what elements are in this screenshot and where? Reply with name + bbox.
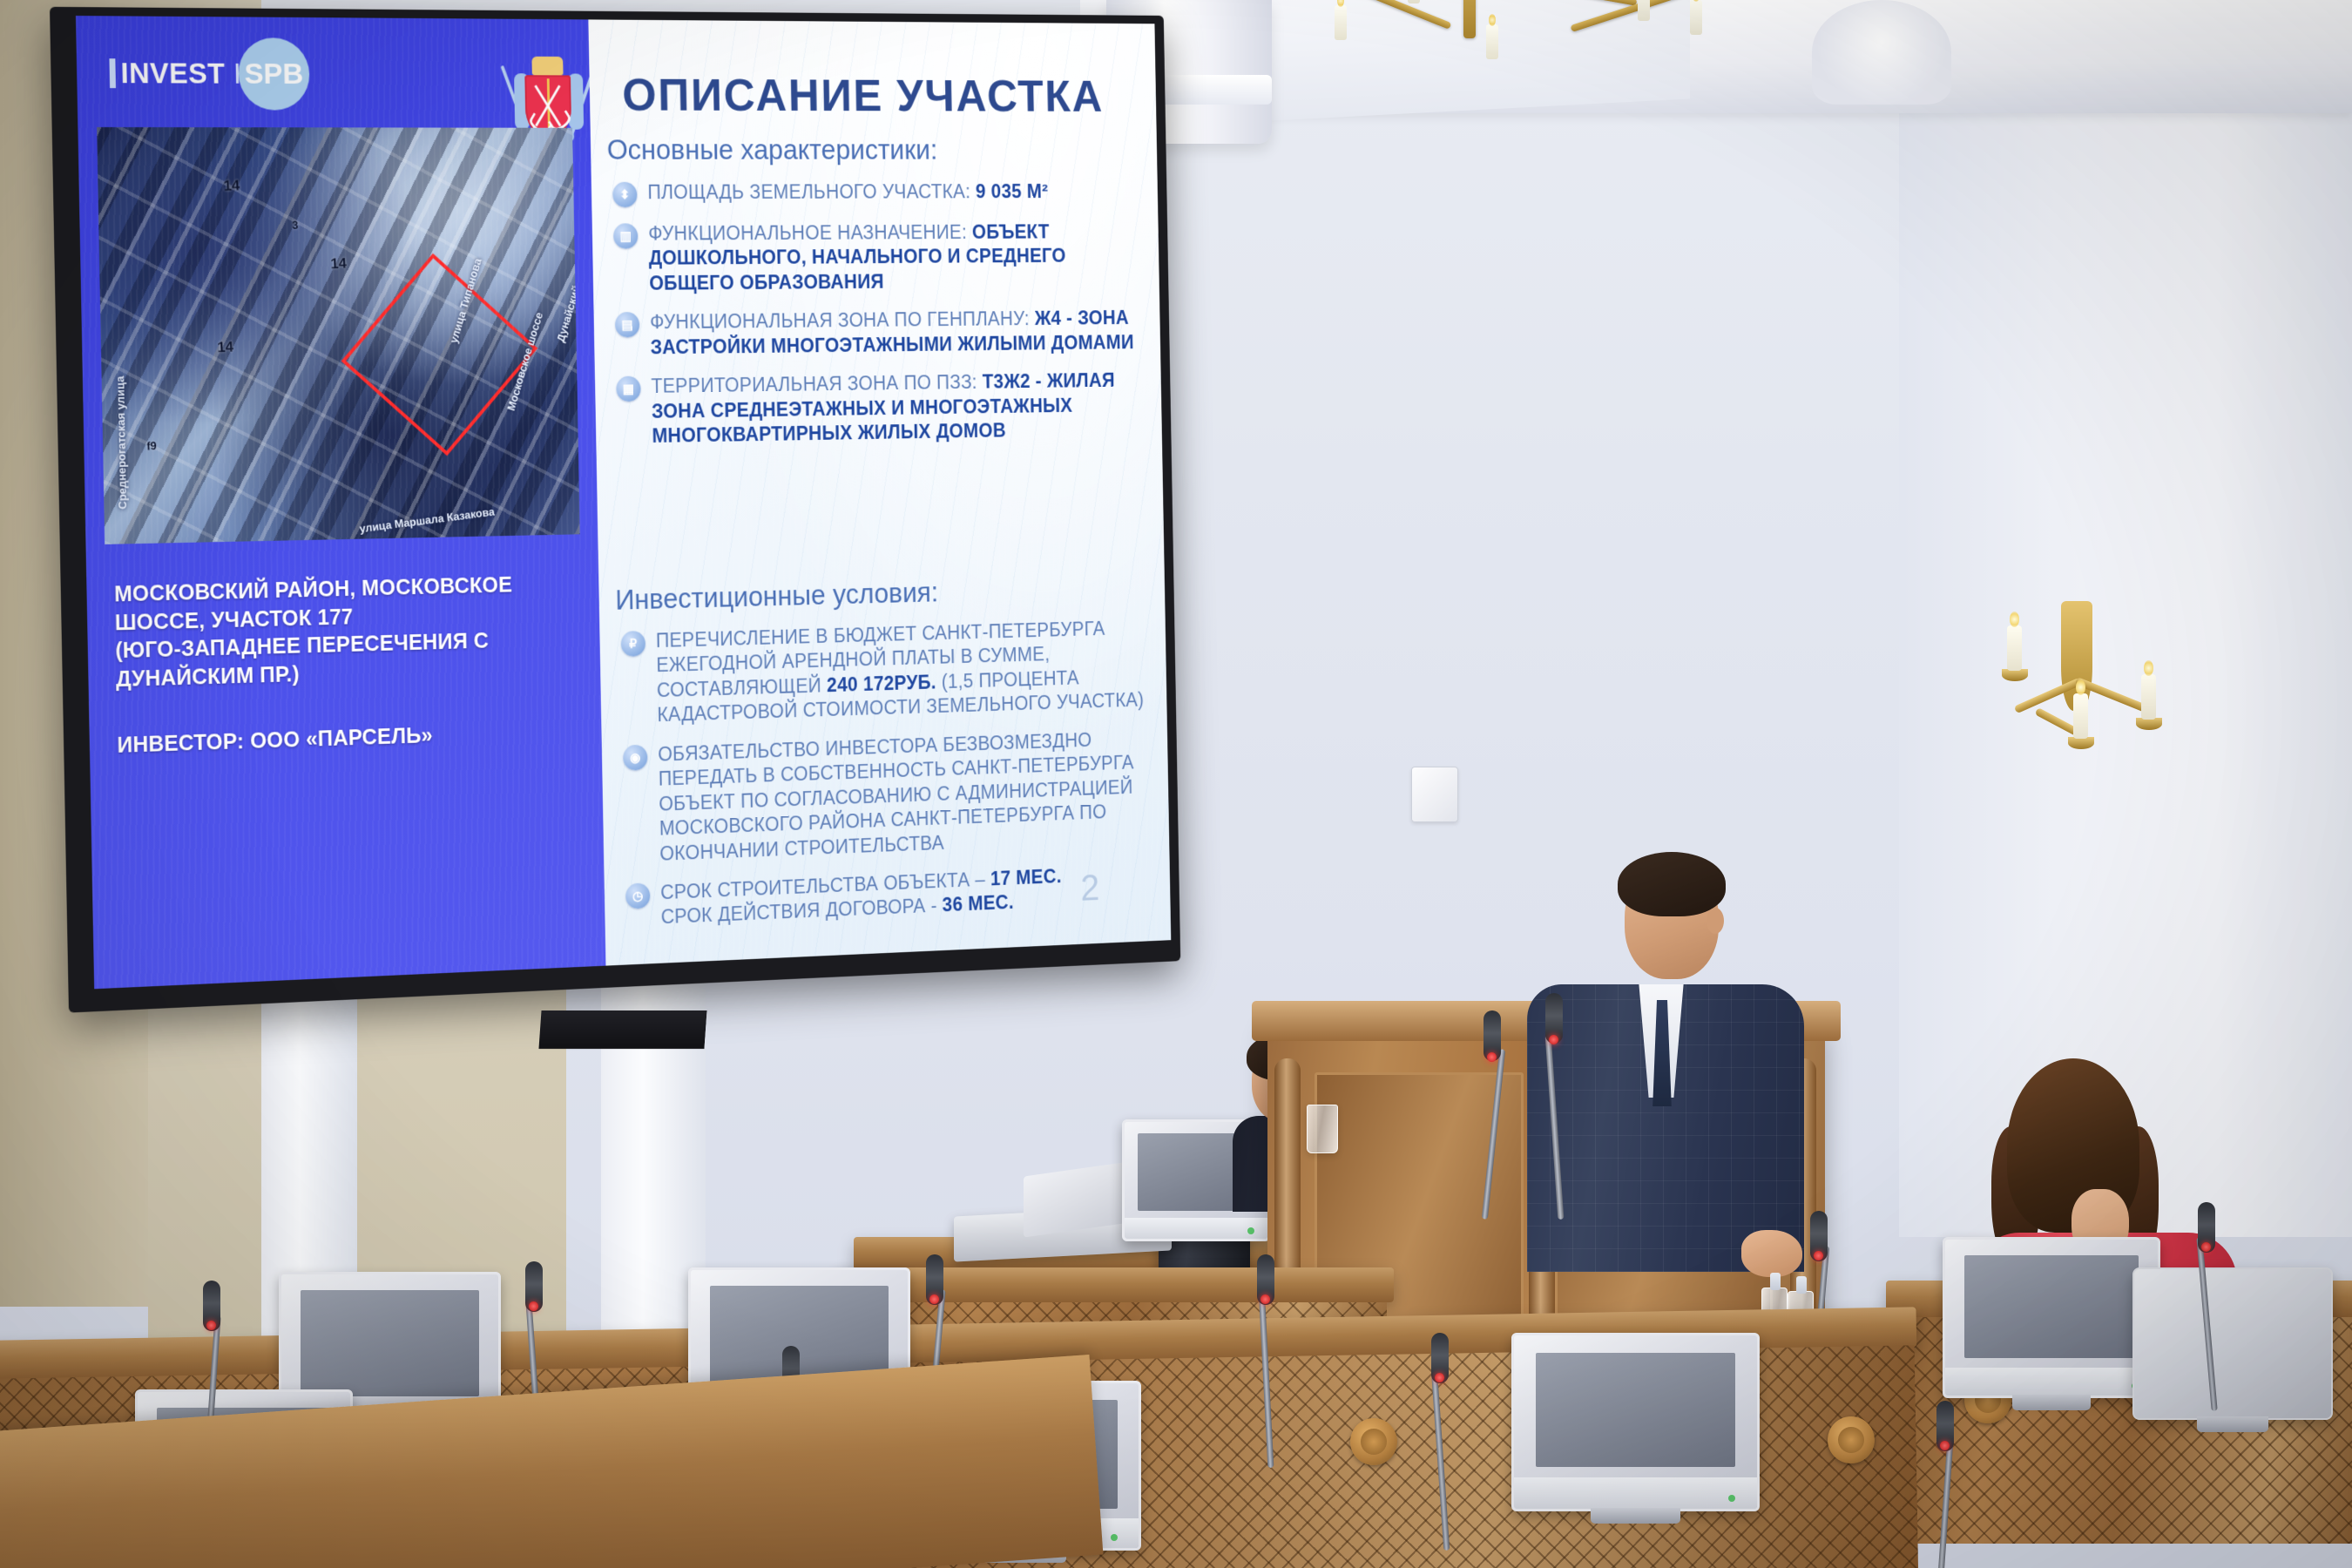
logo-spb-circle: SPB	[238, 37, 310, 110]
bullet-value: 17 МЕС.	[990, 865, 1062, 889]
bullet-label: ТЕРРИТОРИАЛЬНАЯ ЗОНА ПО ПЗЗ:	[651, 371, 983, 397]
wall-sconce	[2004, 601, 2265, 828]
bullet-item: ▥ ФУНКЦИОНАЛЬНОЕ НАЗНАЧЕНИЕ: ОБЪЕКТ ДОШК…	[613, 220, 1147, 296]
projection-screen: INVEST IN SPB	[50, 7, 1180, 1013]
slide-page-number: 2	[1080, 868, 1100, 909]
section-heading-main: Основные характеристики:	[606, 134, 937, 166]
logo-word-spb: SPB	[244, 57, 304, 91]
slide-title: ОПИСАНИЕ УЧАСТКА	[622, 69, 1133, 122]
map-street-label: Среднерогатская улица	[113, 376, 129, 510]
map-building-number: 14	[224, 177, 240, 194]
grid-icon: ▦	[616, 376, 640, 402]
bullet-text: ПЕРЕЧИСЛЕНИЕ В БЮДЖЕТ САНКТ-ПЕТЕРБУРГА Е…	[656, 616, 1155, 728]
logo-word-invest: INVEST	[120, 57, 225, 89]
bullet-item: ▦ ТЕРРИТОРИАЛЬНАЯ ЗОНА ПО ПЗЗ: Т3Ж2 - ЖИ…	[616, 368, 1150, 449]
conference-hall-scene: INVEST IN SPB	[0, 0, 2352, 1568]
bullet-value: 9 035 М²	[976, 180, 1049, 202]
bullet-text: ФУНКЦИОНАЛЬНОЕ НАЗНАЧЕНИЕ: ОБЪЕКТ ДОШКОЛ…	[648, 220, 1147, 296]
bullet-text: ПЛОЩАДЬ ЗЕМЕЛЬНОГО УЧАСТКА: 9 035 М²	[647, 179, 1049, 207]
logo-bar	[109, 58, 116, 88]
building-icon: ▥	[613, 223, 639, 248]
bullet-list-invest: ₽ ПЕРЕЧИСЛЕНИЕ В БЮДЖЕТ САНКТ-ПЕТЕРБУРГА…	[620, 616, 1158, 946]
map-street-label: Дунайский проспект	[554, 233, 579, 344]
delegate-microphone-right-2[interactable]	[2195, 1202, 2220, 1411]
screen-stand	[538, 1010, 706, 1049]
delegate-microphone-7[interactable]	[1934, 1401, 1958, 1568]
bullet-item: ◷ СРОК СТРОИТЕЛЬСТВА ОБЪЕКТА – 17 МЕС. С…	[625, 861, 1159, 932]
podium-microphone-left[interactable]	[1481, 1010, 1507, 1220]
bullet-item: ▤ ФУНКЦИОНАЛЬНАЯ ЗОНА ПО ГЕНПЛАНУ: Ж4 - …	[615, 306, 1148, 360]
slide-left-panel: INVEST IN SPB	[76, 16, 605, 989]
handshake-icon: ◉	[623, 744, 647, 770]
delegate-microphone-4[interactable]	[1254, 1254, 1279, 1468]
investor-label: ИНВЕСТОР: ООО «ПАРСЕЛЬ»	[117, 724, 433, 759]
delegate-monitor-3[interactable]	[1511, 1333, 1760, 1511]
bullet-item: ⬍ ПЛОЩАДЬ ЗЕМЕЛЬНОГО УЧАСТКА: 9 035 М²	[612, 179, 1146, 207]
map-building-number: 14	[330, 255, 347, 273]
chandelier	[1202, 0, 1760, 105]
parcel-boundary-outline	[341, 253, 538, 456]
bullet-text: ТЕРРИТОРИАЛЬНАЯ ЗОНА ПО ПЗЗ: Т3Ж2 - ЖИЛА…	[651, 368, 1150, 449]
bullet-text: СРОК СТРОИТЕЛЬСТВА ОБЪЕКТА – 17 МЕС. СРО…	[660, 864, 1062, 930]
wall-switch[interactable]	[1411, 767, 1458, 822]
bullet-value: 240 172РУБ.	[827, 671, 936, 696]
bullet-label: ПЛОЩАДЬ ЗЕМЕЛЬНОГО УЧАСТКА:	[647, 180, 976, 203]
bullet-text: ФУНКЦИОНАЛЬНАЯ ЗОНА ПО ГЕНПЛАНУ: Ж4 - ЗО…	[650, 306, 1148, 360]
pilaster-capital	[1812, 0, 1951, 105]
bullet-item: ◉ ОБЯЗАТЕЛЬСТВО ИНВЕСТОРА БЕЗВОЗМЕЗДНО П…	[623, 726, 1157, 868]
map-building-number: 3	[292, 218, 299, 231]
book-icon: ▤	[615, 312, 640, 337]
map-building-number: f9	[146, 439, 157, 452]
bullet-label: ФУНКЦИОНАЛЬНАЯ ЗОНА ПО ГЕНПЛАНУ:	[650, 308, 1035, 333]
bullet-item: ₽ ПЕРЕЧИСЛЕНИЕ В БЮДЖЕТ САНКТ-ПЕТЕРБУРГА…	[620, 616, 1154, 729]
slide-surface: INVEST IN SPB	[76, 16, 1171, 989]
water-glass-3[interactable]	[1307, 1105, 1338, 1153]
site-caption-line2: (ЮГО-ЗАПАДНЕЕ ПЕРЕСЕЧЕНИЯ С ДУНАЙСКИМ ПР…	[115, 625, 578, 693]
clock-icon: ◷	[625, 882, 650, 909]
screen-bezel: INVEST IN SPB	[50, 7, 1180, 1013]
podium-microphone-right[interactable]	[1542, 993, 1568, 1220]
slide-right-panel: ОПИСАНИЕ УЧАСТКА Основные характеристики…	[588, 19, 1171, 965]
area-icon: ⬍	[612, 182, 638, 207]
map-street-label: улица Маршала Казакова	[359, 505, 496, 536]
aerial-site-photo: 14 14 14 3 f9 Среднерогатская улица улиц…	[97, 127, 579, 544]
bullet-label: ФУНКЦИОНАЛЬНОЕ НАЗНАЧЕНИЕ:	[648, 221, 972, 245]
map-street-label: улица Типанова	[447, 257, 483, 345]
bullet-text: ОБЯЗАТЕЛЬСТВО ИНВЕСТОРА БЕЗВОЗМЕЗДНО ПЕР…	[658, 726, 1157, 866]
map-street-label: Московское шоссе	[504, 311, 545, 412]
site-caption: МОСКОВСКИЙ РАЙОН, МОСКОВСКОЕ ШОССЕ, УЧАС…	[114, 570, 578, 693]
delegate-monitor-right-2[interactable]	[2132, 1267, 2333, 1420]
map-building-number: 14	[217, 338, 233, 356]
bullet-value-extra: 36 МЕС.	[942, 891, 1013, 916]
section-heading-invest: Инвестиционные условия:	[615, 577, 938, 617]
bullet-list-main: ⬍ ПЛОЩАДЬ ЗЕМЕЛЬНОГО УЧАСТКА: 9 035 М² ▥…	[612, 179, 1150, 463]
invest-in-spb-logo: INVEST IN SPB	[109, 37, 310, 110]
delegate-microphone-6[interactable]	[1429, 1333, 1453, 1551]
ruble-icon: ₽	[621, 631, 645, 657]
